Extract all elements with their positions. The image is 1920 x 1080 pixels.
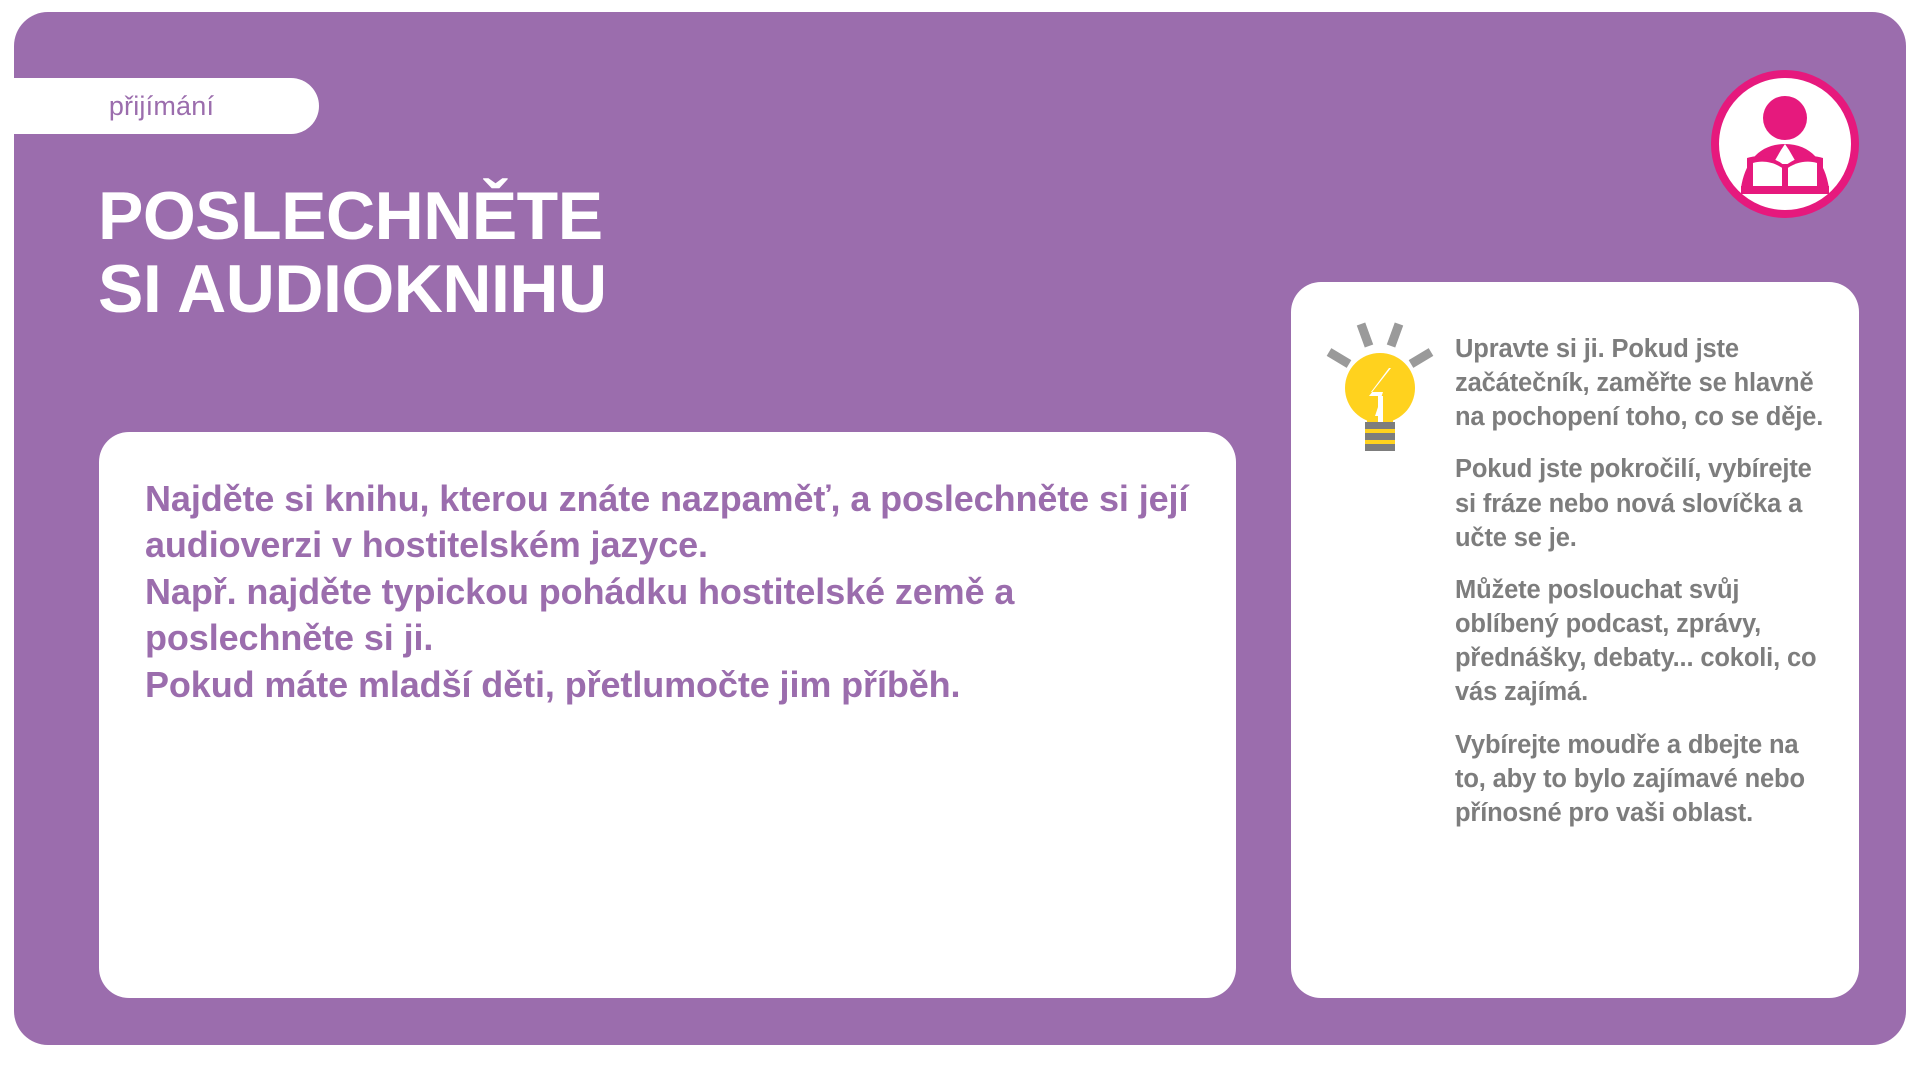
main-content-text: Najděte si knihu, kterou znáte nazpaměť,… bbox=[145, 476, 1190, 708]
slide-panel: přijímání POSLECHNĚTE SI AUDIOKNIHU Najd… bbox=[14, 12, 1906, 1045]
tip-paragraph: Můžete poslouchat svůj oblíbený podcast,… bbox=[1455, 573, 1825, 710]
main-content-card: Najděte si knihu, kterou znáte nazpaměť,… bbox=[99, 432, 1236, 998]
tip-paragraph: Vybírejte moudře a dbejte na to, aby to … bbox=[1455, 728, 1825, 830]
category-pill-label: přijímání bbox=[109, 93, 214, 120]
tip-paragraph: Upravte si ji. Pokud jste začátečník, za… bbox=[1455, 332, 1825, 434]
category-pill: přijímání bbox=[14, 78, 319, 134]
lightbulb-icon bbox=[1317, 312, 1443, 452]
tip-paragraph: Pokud jste pokročilí, vybírejte si fráze… bbox=[1455, 452, 1825, 554]
tips-list: Upravte si ji. Pokud jste začátečník, za… bbox=[1455, 304, 1825, 830]
page-title: POSLECHNĚTE SI AUDIOKNIHU bbox=[98, 180, 607, 327]
tips-card: Upravte si ji. Pokud jste začátečník, za… bbox=[1291, 282, 1859, 998]
person-reading-book-logo bbox=[1711, 70, 1859, 218]
